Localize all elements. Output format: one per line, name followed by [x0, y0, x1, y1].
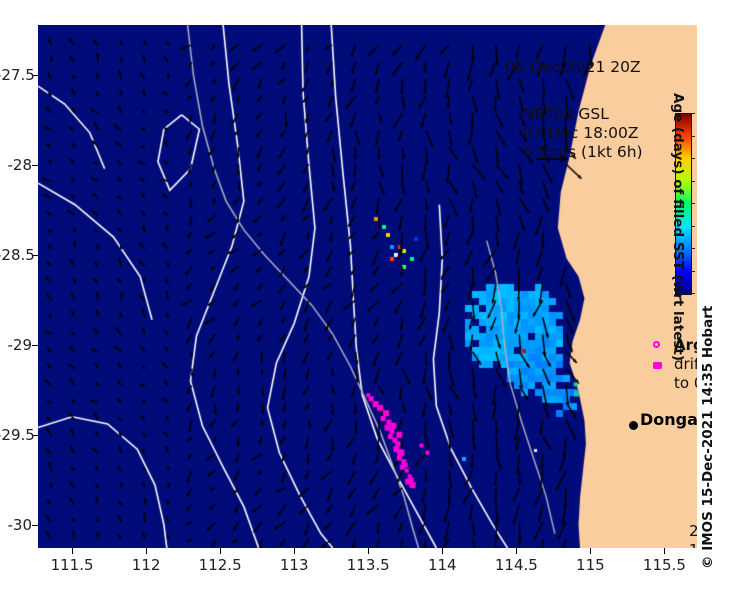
- y-tick-label: -28: [0, 156, 32, 174]
- x-tick: [664, 548, 665, 554]
- y-tick: [32, 345, 38, 346]
- x-tick-label: 112: [132, 556, 161, 574]
- colorbar-tick: [691, 136, 695, 137]
- x-tick: [442, 548, 443, 554]
- x-tick: [146, 548, 147, 554]
- colorbar-tick: [691, 271, 695, 272]
- x-tick-label: 115: [576, 556, 605, 574]
- figure-root: 06-Dec-2021 20Z NRT00 GSL 07-Dec 18:00Z …: [0, 0, 740, 592]
- vector-scale-arrow-icon: [535, 154, 569, 164]
- depth-key-deep: 1000m: [689, 541, 697, 548]
- argo-marker-icon: [653, 341, 660, 348]
- map-plot-area: 06-Dec-2021 20Z NRT00 GSL 07-Dec 18:00Z …: [38, 25, 697, 548]
- colorbar-tick: [691, 181, 695, 182]
- depth-contour-key: 200m 1000m: [689, 522, 697, 548]
- x-tick-label: 113.5: [347, 556, 390, 574]
- colorbar-tick: [691, 203, 695, 204]
- x-tick: [72, 548, 73, 554]
- x-tick-label: 114: [428, 556, 457, 574]
- colorbar-tick: [691, 113, 695, 114]
- map-overlay-layer: [38, 25, 697, 548]
- y-tick-label: -30: [0, 516, 32, 534]
- colorbar-title: Age (days) of filled SST (wrt latest): [670, 93, 686, 361]
- x-tick-label: 114.5: [495, 556, 538, 574]
- y-tick: [32, 165, 38, 166]
- x-tick: [590, 548, 591, 554]
- model-name: NRT00 GSL: [523, 105, 643, 124]
- y-tick-label: -29: [0, 336, 32, 354]
- colorbar-tick: [691, 226, 695, 227]
- copyright-notice: © IMOS 15-Dec-2021 14:35 Hobart: [700, 306, 716, 569]
- model-valid-time: 07-Dec 18:00Z: [523, 124, 643, 143]
- place-label-dongara: Dongara: [640, 410, 697, 429]
- x-tick-label: 115.5: [643, 556, 686, 574]
- date-stamp: 06-Dec-2021 20Z: [505, 58, 641, 76]
- drifter-marker-icon: [653, 362, 662, 369]
- x-tick-label: 112.5: [199, 556, 242, 574]
- x-tick-label: 111.5: [51, 556, 94, 574]
- x-tick: [516, 548, 517, 554]
- y-tick-label: -27.5: [0, 66, 32, 84]
- colorbar-tick: [691, 158, 695, 159]
- x-tick: [220, 548, 221, 554]
- colorbar-tick: [691, 248, 695, 249]
- colorbar-tick: [691, 293, 695, 294]
- y-tick: [32, 525, 38, 526]
- x-tick: [368, 548, 369, 554]
- legend-label-drifters-period: to 07/12 12Z: [674, 374, 697, 392]
- x-tick: [294, 548, 295, 554]
- depth-key-shallow: 200m: [689, 522, 697, 541]
- y-tick-label: -28.5: [0, 246, 32, 264]
- x-tick-label: 113: [280, 556, 309, 574]
- dongara-marker-icon: [629, 421, 638, 430]
- y-tick-label: -29.5: [0, 426, 32, 444]
